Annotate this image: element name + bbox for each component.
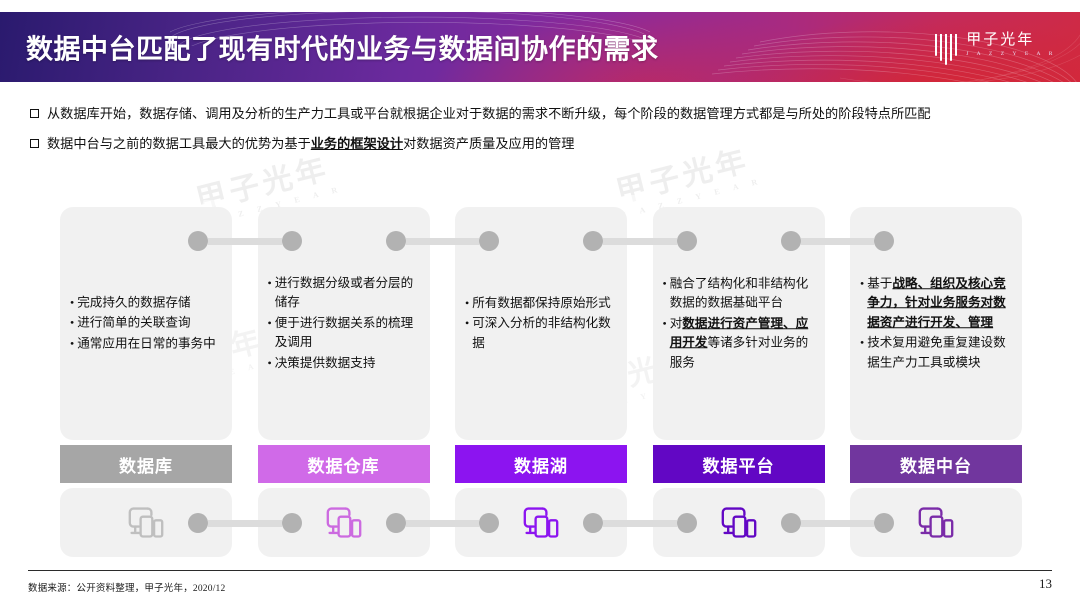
stage-bullet-list: •融合了结构化和非结构化数据的数据基础平台•对数据进行资产管理、应用开发等诸多针… — [663, 274, 817, 374]
bullet-dot-icon: • — [268, 313, 272, 333]
stage-bullet-item: •可深入分析的非结构化数据 — [465, 314, 619, 353]
text-run: 对 — [670, 316, 683, 330]
stage-bullet-item: •基于战略、组织及核心竞争力，针对业务服务对数据资产进行开发、管理 — [860, 274, 1014, 333]
bullet-dot-icon: • — [70, 334, 74, 354]
connector-knob-icon — [874, 513, 894, 533]
stage-bullet-text: 可深入分析的非结构化数据 — [472, 314, 619, 353]
bullet-dot-icon: • — [70, 313, 74, 333]
stage-bullet-item: •通常应用在日常的事务中 — [70, 334, 224, 354]
bullet-dot-icon: • — [860, 274, 864, 294]
connector-bar — [208, 520, 282, 527]
stage-bullet-text: 决策提供数据支持 — [275, 353, 376, 373]
stage-bullet-item: •融合了结构化和非结构化数据的数据基础平台 — [663, 274, 817, 313]
connector-knob-icon — [781, 513, 801, 533]
logo-text-en: J A Z Z Y E A R — [966, 49, 1056, 59]
stage-bullet-text: 融合了结构化和非结构化数据的数据基础平台 — [670, 274, 817, 313]
connector-bar — [801, 520, 875, 527]
stage-bullet-text: 进行简单的关联查询 — [77, 313, 190, 333]
stage-bullet-item: •决策提供数据支持 — [268, 353, 422, 373]
text-run: 可深入分析的非结构化数据 — [472, 316, 611, 350]
footer-source: 数据来源：公开资料整理，甲子光年，2020/12 — [28, 580, 225, 594]
connector-knob-icon — [282, 513, 302, 533]
bullet-dot-icon: • — [465, 314, 469, 334]
text-run: 融合了结构化和非结构化数据的数据基础平台 — [670, 276, 809, 310]
stage-label-database[interactable]: 数据库 — [60, 445, 232, 483]
emphasis-text-run: 业务的框架设计 — [311, 136, 403, 151]
stage-connector — [583, 513, 697, 533]
stage-bullet-item: •进行简单的关联查询 — [70, 313, 224, 333]
stage-connector — [188, 231, 302, 251]
stage-bullet-text: 对数据进行资产管理、应用开发等诸多针对业务的服务 — [670, 314, 817, 373]
connector-knob-icon — [677, 231, 697, 251]
stage-connector — [583, 231, 697, 251]
stage-column-data-platform[interactable]: •融合了结构化和非结构化数据的数据基础平台•对数据进行资产管理、应用开发等诸多针… — [653, 207, 825, 557]
stage-label-data-warehouse[interactable]: 数据仓库 — [258, 445, 430, 483]
text-run: 决策提供数据支持 — [275, 355, 376, 369]
text-run: 基于 — [867, 276, 892, 290]
stage-bullet-list: •进行数据分级或者分层的储存•便于进行数据关系的梳理及调用•决策提供数据支持 — [268, 273, 422, 374]
text-run: 进行简单的关联查询 — [77, 315, 190, 329]
stage-bullet-list: •所有数据都保持原始形式•可深入分析的非结构化数据 — [465, 293, 619, 354]
checkbox-square-icon — [30, 139, 39, 148]
stage-bullet-text: 完成持久的数据存储 — [77, 293, 190, 313]
page-title: 数据中台匹配了现有时代的业务与数据间协作的需求 — [26, 28, 659, 67]
text-run: 通常应用在日常的事务中 — [77, 336, 216, 350]
bullet-list: 从数据库开始，数据存储、调用及分析的生产力工具或平台就根据企业对于数据的需求不断… — [30, 104, 1040, 164]
devices-icon — [916, 505, 956, 541]
connector-knob-icon — [282, 231, 302, 251]
connector-knob-icon — [583, 513, 603, 533]
checkbox-square-icon — [30, 109, 39, 118]
stage-bullet-item: •完成持久的数据存储 — [70, 293, 224, 313]
stage-bullet-text: 所有数据都保持原始形式 — [472, 293, 611, 313]
connector-bar — [208, 238, 282, 245]
connector-knob-icon — [386, 231, 406, 251]
stage-bullet-text: 便于进行数据关系的梳理及调用 — [275, 313, 422, 352]
connector-knob-icon — [188, 231, 208, 251]
text-run: 从数据库开始，数据存储、调用及分析的生产力工具或平台就根据企业对于数据的需求不断… — [47, 106, 931, 121]
bullet-dot-icon: • — [860, 333, 864, 353]
stage-bullet-text: 进行数据分级或者分层的储存 — [275, 273, 422, 312]
stage-bullet-item: •对数据进行资产管理、应用开发等诸多针对业务的服务 — [663, 314, 817, 373]
stage-label-data-lake[interactable]: 数据湖 — [455, 445, 627, 483]
logo-text-cn: 甲子光年 — [966, 32, 1056, 49]
connector-knob-icon — [188, 513, 208, 533]
devices-icon — [126, 505, 166, 541]
page-number: 13 — [1039, 576, 1052, 592]
text-run: 进行数据分级或者分层的储存 — [275, 275, 414, 309]
stage-label-data-platform[interactable]: 数据平台 — [653, 445, 825, 483]
stage-diagram: •完成持久的数据存储•进行简单的关联查询•通常应用在日常的事务中数据库•进行数据… — [60, 207, 1022, 557]
stage-connector — [781, 513, 895, 533]
stage-bullet-text: 技术复用避免重复建设数据生产力工具或模块 — [867, 333, 1014, 372]
bullet-dot-icon: • — [70, 293, 74, 313]
bullet-item: 从数据库开始，数据存储、调用及分析的生产力工具或平台就根据企业对于数据的需求不断… — [30, 104, 1040, 123]
bullet-dot-icon: • — [663, 274, 667, 294]
stage-connector — [188, 513, 302, 533]
text-run: 对数据资产质量及应用的管理 — [403, 136, 574, 151]
devices-icon — [521, 505, 561, 541]
stage-bullet-item: •技术复用避免重复建设数据生产力工具或模块 — [860, 333, 1014, 372]
connector-bar — [603, 238, 677, 245]
devices-icon — [719, 505, 759, 541]
bullet-dot-icon: • — [663, 314, 667, 334]
bullet-dot-icon: • — [465, 293, 469, 313]
bullet-text: 数据中台与之前的数据工具最大的优势为基于业务的框架设计对数据资产质量及应用的管理 — [47, 134, 575, 153]
logo-bars-icon — [935, 34, 957, 65]
devices-icon — [324, 505, 364, 541]
stage-label-data-middle-platform[interactable]: 数据中台 — [850, 445, 1022, 483]
footer-divider — [28, 570, 1052, 571]
connector-bar — [603, 520, 677, 527]
connector-knob-icon — [479, 231, 499, 251]
connector-knob-icon — [583, 231, 603, 251]
connector-knob-icon — [479, 513, 499, 533]
stage-connector — [781, 231, 895, 251]
text-run: 便于进行数据关系的梳理及调用 — [275, 315, 414, 349]
stage-bullet-item: •所有数据都保持原始形式 — [465, 293, 619, 313]
slide: 数据中台匹配了现有时代的业务与数据间协作的需求 甲子光年 J A Z Z Y E… — [0, 0, 1080, 607]
stage-bullet-item: •便于进行数据关系的梳理及调用 — [268, 313, 422, 352]
connector-bar — [801, 238, 875, 245]
bullet-dot-icon: • — [268, 353, 272, 373]
bullet-dot-icon: • — [268, 273, 272, 293]
bullet-text: 从数据库开始，数据存储、调用及分析的生产力工具或平台就根据企业对于数据的需求不断… — [47, 104, 931, 123]
stage-bullet-text: 基于战略、组织及核心竞争力，针对业务服务对数据资产进行开发、管理 — [867, 274, 1014, 333]
connector-bar — [406, 520, 480, 527]
stage-column-database[interactable]: •完成持久的数据存储•进行简单的关联查询•通常应用在日常的事务中数据库 — [60, 207, 232, 557]
connector-knob-icon — [874, 231, 894, 251]
text-run: 技术复用避免重复建设数据生产力工具或模块 — [867, 335, 1006, 369]
stage-connector — [386, 231, 500, 251]
stage-bullet-item: •进行数据分级或者分层的储存 — [268, 273, 422, 312]
header-banner: 数据中台匹配了现有时代的业务与数据间协作的需求 甲子光年 J A Z Z Y E… — [0, 12, 1080, 82]
connector-knob-icon — [781, 231, 801, 251]
connector-knob-icon — [386, 513, 406, 533]
connector-bar — [406, 238, 480, 245]
text-run: 完成持久的数据存储 — [77, 295, 190, 309]
brand-logo: 甲子光年 J A Z Z Y E A R — [935, 32, 1056, 65]
connector-knob-icon — [677, 513, 697, 533]
stage-bullet-list: •基于战略、组织及核心竞争力，针对业务服务对数据资产进行开发、管理•技术复用避免… — [860, 274, 1014, 374]
stage-bullet-list: •完成持久的数据存储•进行简单的关联查询•通常应用在日常的事务中 — [70, 293, 224, 355]
text-run: 数据中台与之前的数据工具最大的优势为基于 — [47, 136, 311, 151]
bullet-item: 数据中台与之前的数据工具最大的优势为基于业务的框架设计对数据资产质量及应用的管理 — [30, 134, 1040, 153]
stage-column-data-middle-platform[interactable]: •基于战略、组织及核心竞争力，针对业务服务对数据资产进行开发、管理•技术复用避免… — [850, 207, 1022, 557]
stage-column-data-lake[interactable]: •所有数据都保持原始形式•可深入分析的非结构化数据数据湖 — [455, 207, 627, 557]
stage-column-data-warehouse[interactable]: •进行数据分级或者分层的储存•便于进行数据关系的梳理及调用•决策提供数据支持数据… — [258, 207, 430, 557]
text-run: 所有数据都保持原始形式 — [472, 295, 611, 309]
stage-bullet-text: 通常应用在日常的事务中 — [77, 334, 216, 354]
stage-connector — [386, 513, 500, 533]
